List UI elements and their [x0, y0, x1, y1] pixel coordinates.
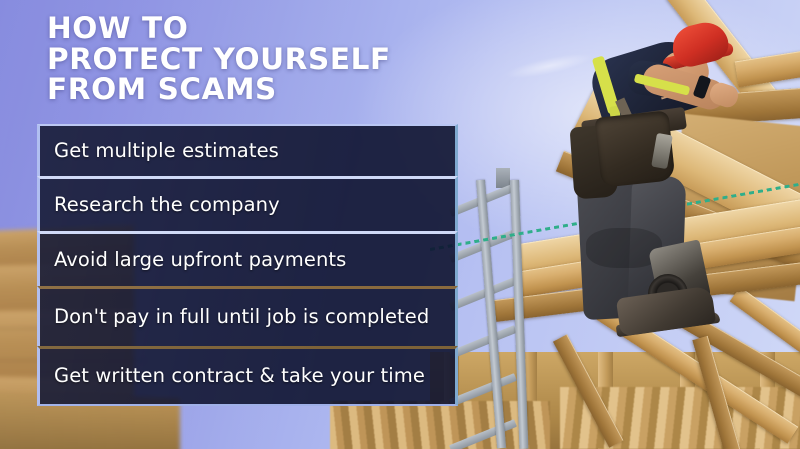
tips-list: Get multiple estimates Research the comp… — [37, 124, 458, 406]
aluminum-ladder — [474, 180, 532, 449]
construction-worker — [576, 18, 756, 318]
list-item[interactable]: Get multiple estimates — [37, 124, 458, 176]
ladder-rail — [476, 180, 506, 449]
list-item-label: Don't pay in full until job is completed — [54, 306, 429, 328]
list-item[interactable]: Don't pay in full until job is completed — [37, 286, 458, 346]
list-item[interactable]: Get written contract & take your time — [37, 346, 458, 406]
page-title: HOW TO PROTECT YOURSELF FROM SCAMS — [47, 13, 391, 105]
list-item[interactable]: Research the company — [37, 176, 458, 231]
list-item-label: Avoid large upfront payments — [54, 249, 346, 271]
list-item-label: Get multiple estimates — [54, 140, 279, 162]
red-hard-hat-icon — [668, 18, 732, 70]
list-item-label: Research the company — [54, 194, 280, 216]
news-graphic-slide: HOW TO PROTECT YOURSELF FROM SCAMS Get m… — [0, 0, 800, 449]
list-item-label: Get written contract & take your time — [54, 365, 425, 387]
ladder-rail — [510, 180, 528, 449]
list-item[interactable]: Avoid large upfront payments — [37, 231, 458, 286]
